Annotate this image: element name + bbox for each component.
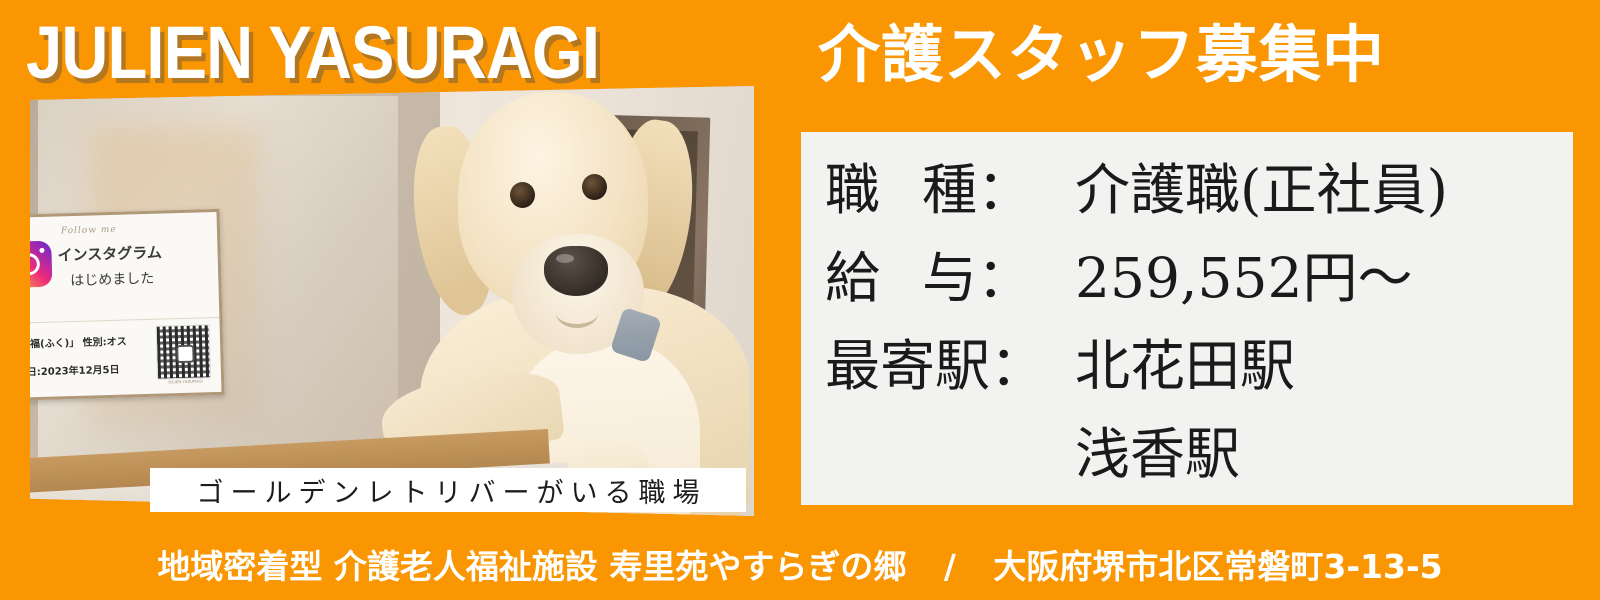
dog-name-gender: 名前:「福(ふく)」 性別:オス xyxy=(30,333,127,352)
info-label-salary: 給与： xyxy=(825,234,1075,322)
instagram-sign-bottom: 名前:「福(ふく)」 性別:オス 生年月日:2023年12月5日 JULIEN … xyxy=(30,318,221,394)
info-value-salary: 259,552円〜 xyxy=(1075,234,1412,322)
photo-caption-band: ゴールデンレトリバーがいる職場 xyxy=(150,468,746,512)
info-row-station: 最寄駅： 北花田駅 xyxy=(825,322,1573,410)
footer-text: 地域密着型 介護老人福祉施設 寿里苑やすらぎの郷 / 大阪府堺市北区常磐町3-1… xyxy=(157,540,1442,588)
dog-birthdate: 生年月日:2023年12月5日 xyxy=(30,361,120,379)
brand-title: JULIEN YASURAGI xyxy=(26,14,599,92)
dog-nose-highlight xyxy=(556,254,574,263)
follow-me-label: Follow me xyxy=(61,225,117,237)
instagram-icon xyxy=(30,241,52,288)
info-row-station-2: 最寄駅： 浅香駅 xyxy=(825,410,1573,498)
instagram-sign-line2: はじめました xyxy=(70,268,155,290)
info-label-job-type: 職種： xyxy=(825,146,1075,234)
info-value-station-2: 浅香駅 xyxy=(1075,410,1240,498)
info-value-job-type: 介護職(正社員) xyxy=(1075,146,1448,234)
info-label-station: 最寄駅： xyxy=(825,322,1075,410)
dog-photo: Follow me インスタグラム はじめました 名前:「福(ふく)」 性別:オ… xyxy=(30,86,754,516)
job-info-panel: 職種： 介護職(正社員) 給与： 259,552円〜 最寄駅： 北花田駅 最寄駅… xyxy=(801,132,1573,505)
qr-caption: JULIEN YASURAGI xyxy=(159,378,211,384)
footer-separator: / xyxy=(918,547,982,586)
instagram-sign-top: Follow me インスタグラム はじめました xyxy=(30,212,219,324)
info-row-job-type: 職種： 介護職(正社員) xyxy=(825,146,1573,234)
footer-bar: 地域密着型 介護老人福祉施設 寿里苑やすらぎの郷 / 大阪府堺市北区常磐町3-1… xyxy=(0,528,1600,600)
instagram-sign-line1: インスタグラム xyxy=(57,242,162,266)
photo-inner: Follow me インスタグラム はじめました 名前:「福(ふく)」 性別:オ… xyxy=(30,86,754,516)
dog-eye-left xyxy=(510,182,535,208)
headline-recruiting: 介護スタッフ募集中 xyxy=(818,20,1385,90)
info-value-station-1: 北花田駅 xyxy=(1075,322,1295,410)
dog-mouth xyxy=(556,298,598,328)
photo-caption-text: ゴールデンレトリバーがいる職場 xyxy=(190,471,707,510)
recruitment-banner: JULIEN YASURAGI 介護スタッフ募集中 xyxy=(0,0,1600,600)
dog-eye-right xyxy=(582,174,607,200)
footer-facility: 地域密着型 介護老人福祉施設 寿里苑やすらぎの郷 xyxy=(157,547,906,586)
qr-code-icon xyxy=(156,324,211,379)
dog-nose xyxy=(544,246,608,296)
instagram-sign: Follow me インスタグラム はじめました 名前:「福(ふく)」 性別:オ… xyxy=(30,209,225,401)
info-row-salary: 給与： 259,552円〜 xyxy=(825,234,1573,322)
footer-address: 大阪府堺市北区常磐町3-13-5 xyxy=(993,547,1442,586)
